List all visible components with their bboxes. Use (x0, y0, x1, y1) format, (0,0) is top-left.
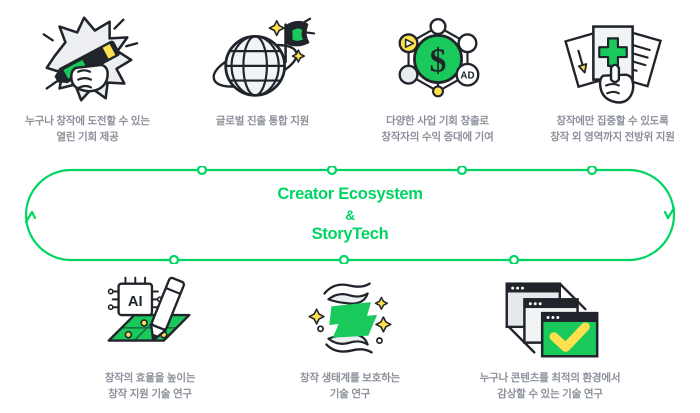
feature-item-open-opportunity: 누구나 창작에 도전할 수 있는 열린 기회 제공 (0, 10, 175, 146)
feature-item-revenue-growth: $ AD 다양한 사업 기회 창출로 창작자의 수익 증대에 기여 (350, 10, 525, 146)
feature-item-global-support: 글로벌 진출 통합 지원 (175, 10, 350, 146)
browser-check-icon (495, 276, 605, 362)
feature-caption: 창작 생태계를 보호하는 기술 연구 (300, 370, 400, 403)
banner-title-ampersand: & (345, 206, 355, 224)
banner-title-line1: Creator Ecosystem (277, 184, 422, 206)
svg-text:AI: AI (128, 294, 143, 310)
globe-flag-icon (208, 10, 318, 105)
creator-ecosystem-diagram: 누구나 창작에 도전할 수 있는 열린 기회 제공 (0, 0, 700, 413)
feature-caption: 누구나 콘텐츠를 최적의 환경에서 감상할 수 있는 기술 연구 (480, 370, 621, 403)
feature-caption: 누구나 창작에 도전할 수 있는 열린 기회 제공 (25, 113, 149, 146)
feature-item-optimal-viewing: 누구나 콘텐츠를 최적의 환경에서 감상할 수 있는 기술 연구 (450, 276, 650, 403)
feature-item-full-support: 창작에만 집중할 수 있도록 창작 외 영역까지 전방위 지원 (525, 10, 700, 146)
dollar-network-icon: $ AD (383, 10, 493, 105)
feature-item-ecosystem-protection: 창작 생태계를 보호하는 기술 연구 (250, 276, 450, 403)
feature-caption: 글로벌 진출 통합 지원 (216, 113, 309, 129)
ai-chip-pencil-icon: AI (95, 276, 205, 362)
feature-caption: 창작의 효율을 높이는 창작 지원 기술 연구 (105, 370, 196, 403)
feature-caption: 창작에만 집중할 수 있도록 창작 외 영역까지 전방위 지원 (550, 113, 674, 146)
banner-title-line2: StoryTech (312, 224, 389, 246)
shield-leaf-icon (295, 276, 405, 362)
top-feature-row: 누구나 창작에 도전할 수 있는 열린 기회 제공 (0, 10, 700, 146)
banner-title-group: Creator Ecosystem & StoryTech (22, 166, 678, 264)
feature-item-creation-efficiency: AI 창작의 효율을 높이는 창작 지원 기술 연구 (50, 276, 250, 403)
center-banner: Creator Ecosystem & StoryTech (22, 166, 678, 264)
documents-cross-icon (558, 10, 668, 105)
bottom-feature-row: AI 창작의 효율을 높이는 창작 지원 기술 연구 (0, 276, 700, 403)
svg-text:AD: AD (460, 70, 474, 81)
pencil-burst-icon (33, 10, 143, 105)
feature-caption: 다양한 사업 기회 창출로 창작자의 수익 증대에 기여 (381, 113, 493, 146)
svg-text:$: $ (429, 42, 446, 79)
